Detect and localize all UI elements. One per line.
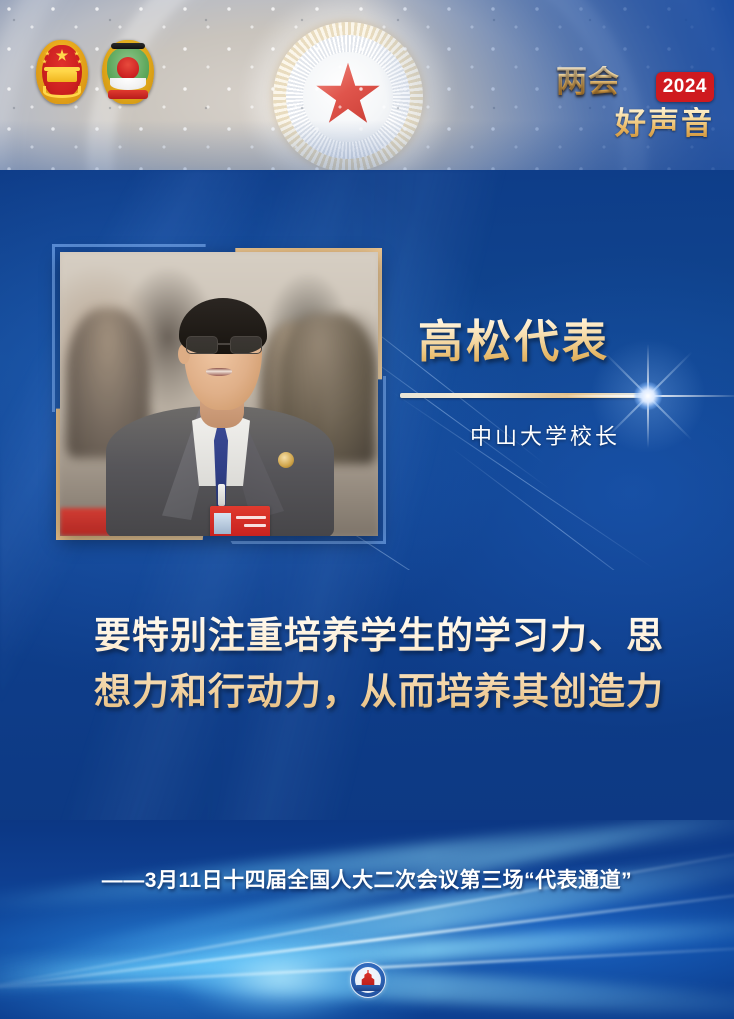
header-emblems	[36, 40, 154, 104]
cppcc-emblem-icon	[102, 40, 154, 104]
speaker-title: 中山大学校长	[470, 422, 620, 452]
glasses-icon	[184, 336, 264, 354]
subject-pocket-pen	[218, 484, 225, 506]
delegate-id-badge	[210, 506, 270, 536]
logo-lianghui-text: 两会	[556, 66, 620, 98]
speaker-photo-block	[60, 252, 378, 536]
logo-haoshengyin-text: 好声音	[556, 107, 714, 141]
lianghui-logo: 两会 2024 好声音	[556, 66, 714, 144]
speaker-name: 高松代表	[418, 316, 610, 368]
speaker-photo	[60, 252, 378, 536]
source-caption: ——3月11日十四届全国人大二次会议第三场“代表通道”	[0, 866, 734, 896]
poster-root: 两会 2024 好声音	[0, 0, 734, 1019]
subject-mouth	[206, 368, 232, 376]
npc-great-hall-roundel-icon	[350, 962, 386, 998]
subject-lapel-pin	[278, 452, 294, 468]
logo-top-row: 两会 2024	[556, 66, 714, 106]
logo-year-badge: 2024	[656, 72, 714, 102]
photo-subject	[122, 284, 318, 536]
quote-text: 要特别注重培养学生的学习力、思想力和行动力，从而培养其创造力	[94, 608, 674, 720]
national-emblem-of-china-icon	[36, 40, 88, 104]
